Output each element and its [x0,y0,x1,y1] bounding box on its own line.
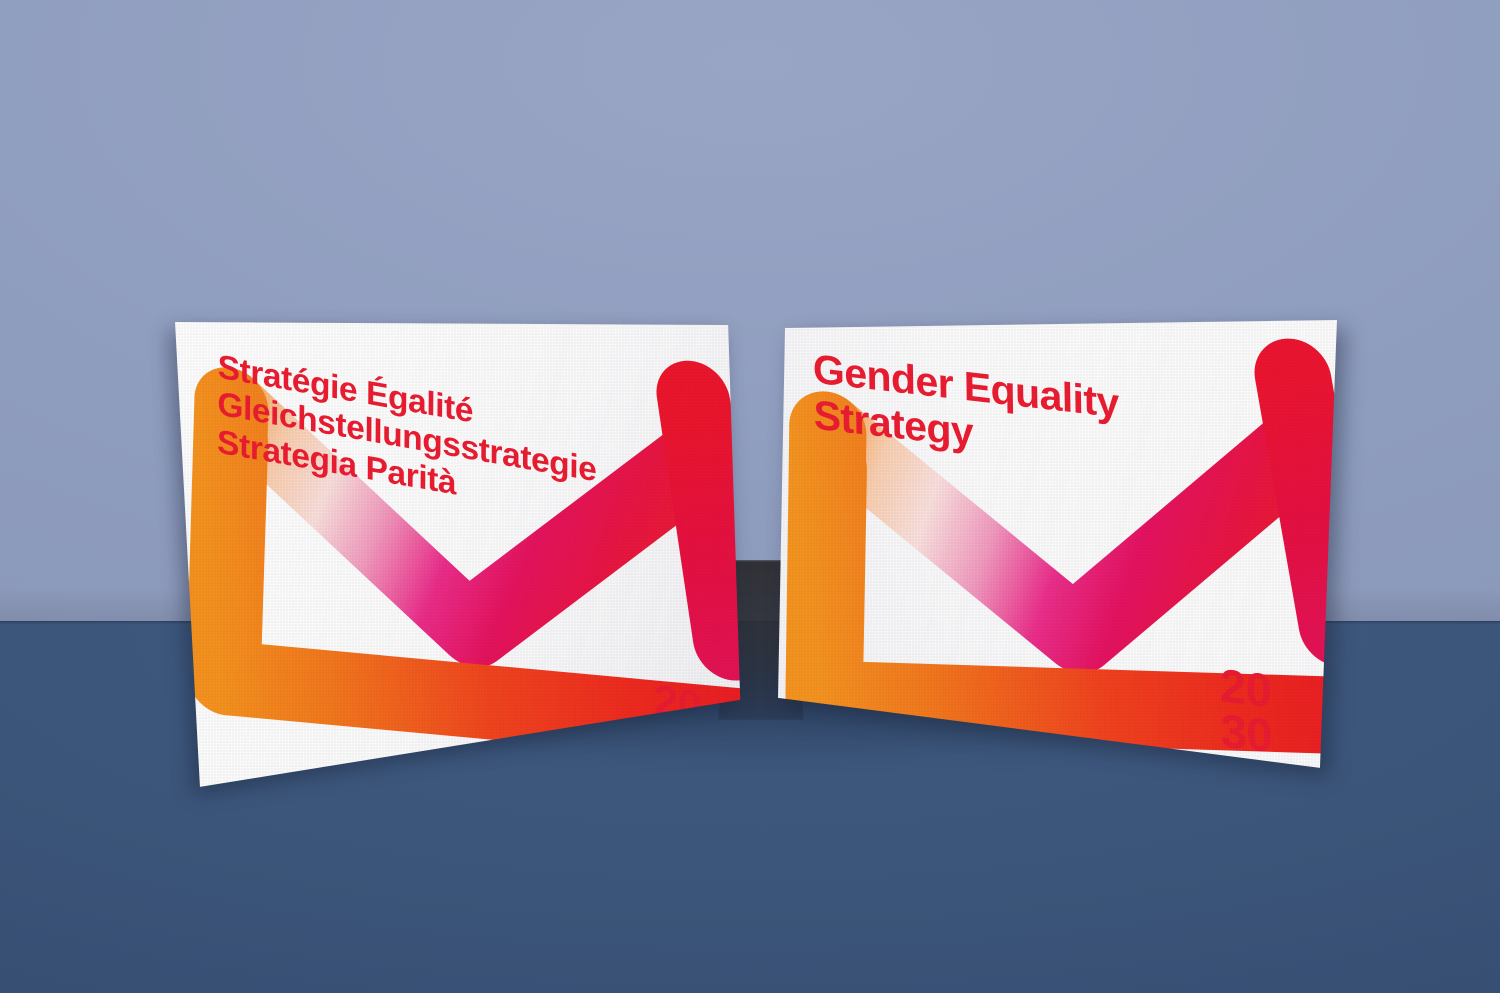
card-right-year: 20 30 [1220,662,1273,758]
photo-scene: Stratégie Égalité Gleichstellungsstrateg… [0,0,1500,993]
card-right-content-plane: Gender Equality Strategy 20 30 [772,312,1350,782]
card-right-wrapper: Gender Equality Strategy 20 30 [0,0,1500,993]
postcard-english[interactable]: Gender Equality Strategy 20 30 [772,312,1350,782]
year-bottom: 30 [1220,708,1272,759]
